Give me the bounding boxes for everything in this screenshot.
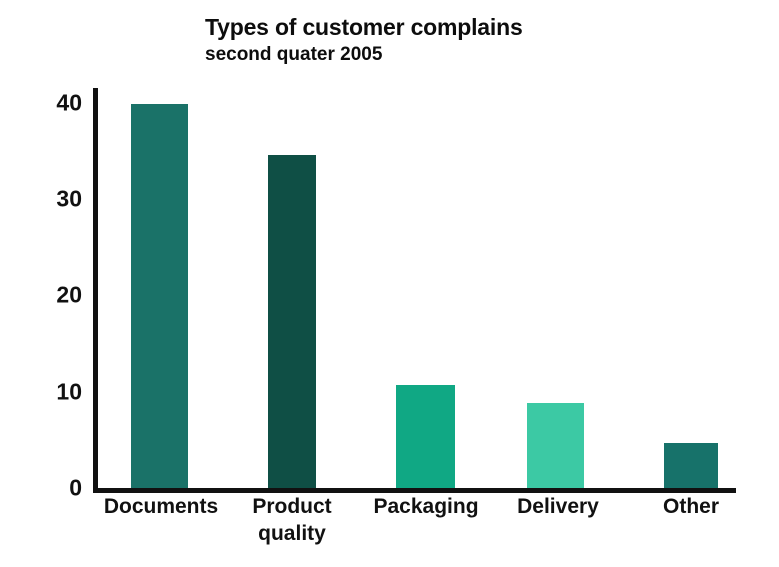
x-axis-category-labels: DocumentsProduct qualityPackagingDeliver…: [0, 494, 779, 567]
bar: [131, 104, 188, 488]
x-axis-line: [93, 488, 736, 493]
bar: [664, 443, 718, 488]
bar: [396, 385, 455, 488]
x-category-label: Packaging: [373, 494, 478, 521]
bar: [268, 155, 316, 488]
x-category-label: Delivery: [517, 494, 599, 521]
x-category-label: Other: [663, 494, 719, 521]
bars-container: [0, 0, 779, 488]
x-category-label: Product quality: [252, 494, 331, 548]
bar: [527, 403, 584, 488]
x-category-label: Documents: [104, 494, 218, 521]
bar-chart: Types of customer complains second quate…: [0, 0, 779, 567]
